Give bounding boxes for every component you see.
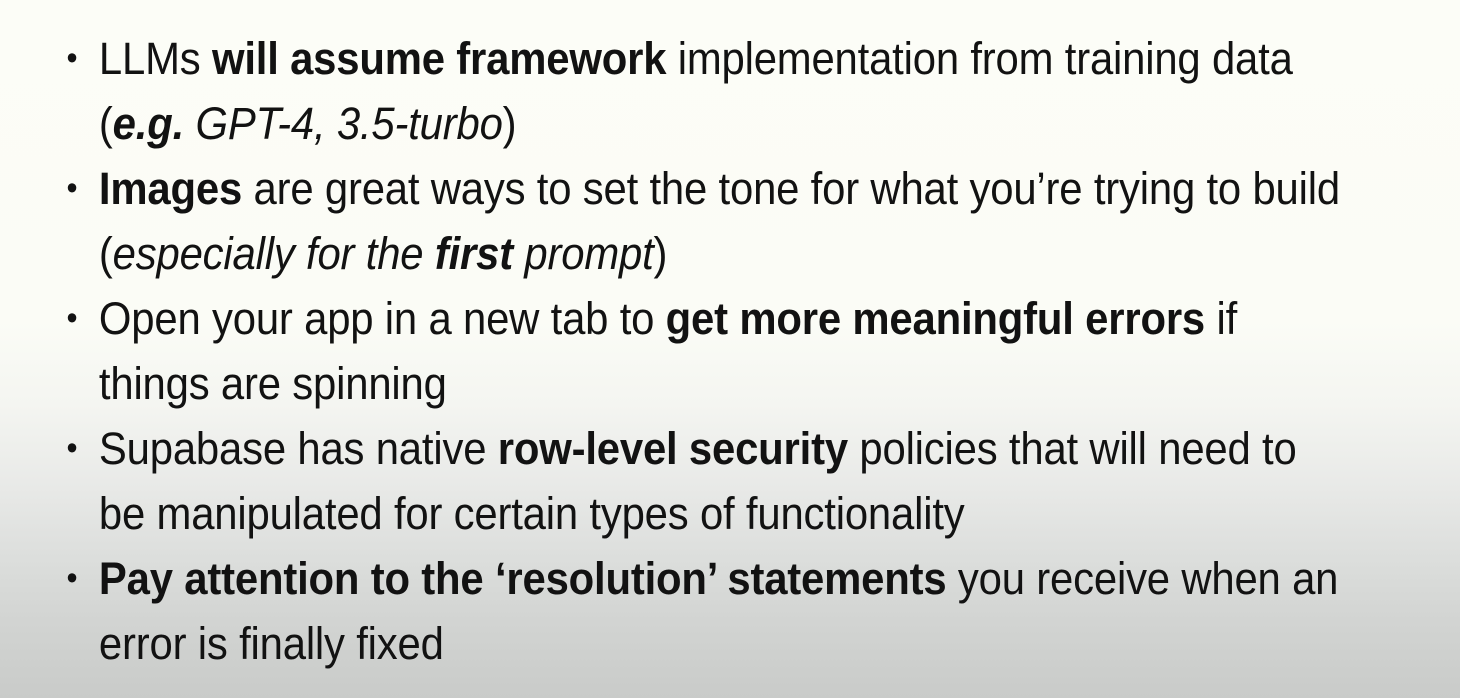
bullet-point-icon: • bbox=[65, 546, 78, 611]
bullet-list: • LLMs will assume framework implementat… bbox=[58, 26, 1448, 676]
bullet-point-icon: • bbox=[65, 156, 78, 221]
list-item: • LLMs will assume framework implementat… bbox=[58, 26, 1351, 156]
list-item: • Images are great ways to set the tone … bbox=[58, 156, 1351, 286]
bullet-text-4: Pay attention to the ‘resolution’ statem… bbox=[99, 546, 1351, 676]
bullet-text-3: Supabase has native row-level security p… bbox=[99, 416, 1351, 546]
bullet-text-0: LLMs will assume framework implementatio… bbox=[99, 26, 1351, 156]
bullet-text-2: Open your app in a new tab to get more m… bbox=[99, 286, 1351, 416]
bullet-point-icon: • bbox=[65, 26, 78, 91]
bullet-text-1: Images are great ways to set the tone fo… bbox=[99, 156, 1351, 286]
list-item: • Pay attention to the ‘resolution’ stat… bbox=[58, 546, 1351, 676]
list-item: • Supabase has native row-level security… bbox=[58, 416, 1351, 546]
list-item: • Open your app in a new tab to get more… bbox=[58, 286, 1351, 416]
bullet-point-icon: • bbox=[65, 286, 78, 351]
bullet-point-icon: • bbox=[65, 416, 78, 481]
slide-canvas: • LLMs will assume framework implementat… bbox=[0, 0, 1460, 698]
